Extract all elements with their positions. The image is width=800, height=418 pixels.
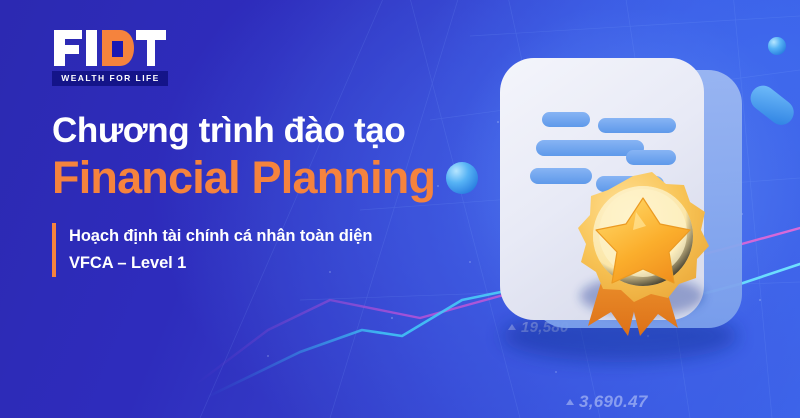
training-program-banner: WEALTH FOR LIFE Chương trình đào tạo Fin… [0, 0, 800, 418]
subtitle-line-1: Hoạch định tài chính cá nhân toàn diện [69, 223, 522, 250]
decor-sphere-top-right [768, 37, 786, 55]
headline-block: Chương trình đào tạo Financial Planning … [52, 112, 522, 277]
subtitle-line-2: VFCA – Level 1 [69, 250, 522, 277]
certificate-illustration [470, 40, 800, 380]
decor-sphere-left [446, 162, 478, 194]
up-arrow-icon [566, 399, 574, 405]
decor-capsule [746, 81, 799, 130]
ticker-value-2: 3,690.47 [566, 392, 648, 412]
logo-letters-svg [52, 28, 168, 68]
headline-line-1: Chương trình đào tạo [52, 112, 522, 149]
ticker-2-text: 3,690.47 [579, 392, 648, 411]
subtitle-block: Hoạch định tài chính cá nhân toàn diện V… [52, 223, 522, 276]
logo-wordmark [52, 28, 168, 68]
logo-tagline: WEALTH FOR LIFE [52, 71, 168, 86]
fidt-logo: WEALTH FOR LIFE [52, 28, 168, 86]
